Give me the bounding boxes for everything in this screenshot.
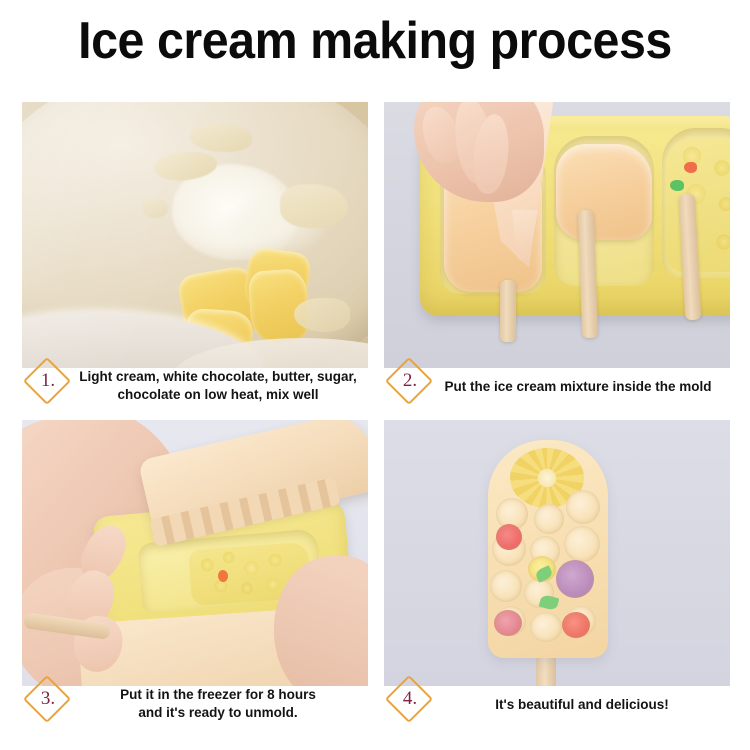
infographic-page: Ice cream making process [0, 0, 750, 750]
step-photo-4 [384, 420, 730, 686]
page-title: Ice cream making process [26, 10, 724, 72]
caption-line: It's beautiful and delicious! [442, 696, 722, 714]
steps-grid: 1. Light cream, white chocolate, butter,… [0, 100, 750, 750]
step-photo-1 [22, 102, 368, 368]
pink-rose-icon [494, 610, 522, 636]
purple-rose-icon [556, 560, 594, 598]
coral-flower-icon [562, 612, 590, 638]
step-card-3: 3. Put it in the freezer for 8 hours and… [22, 420, 368, 740]
cream-rosette-icon [530, 612, 562, 642]
step-number-1: 1. [30, 364, 64, 398]
wooden-stick-icon [500, 280, 516, 342]
step-card-1: 1. Light cream, white chocolate, butter,… [22, 102, 368, 422]
red-flower-icon [684, 162, 697, 173]
step-caption-1: Light cream, white chocolate, butter, su… [68, 368, 368, 404]
step-number-4: 4. [392, 682, 426, 716]
chocolate-chunk-icon [280, 184, 348, 228]
step-caption-4: It's beautiful and delicious! [442, 696, 722, 714]
caption-line: Light cream, white chocolate, butter, su… [68, 368, 368, 386]
step-caption-row-1: 1. Light cream, white chocolate, butter,… [22, 368, 368, 420]
step-photo-2 [384, 102, 730, 368]
caption-line: chocolate on low heat, mix well [68, 386, 368, 404]
step-card-4: 4. It's beautiful and delicious! [384, 420, 730, 740]
cream-rosette-icon [566, 490, 600, 524]
chocolate-chunk-icon [142, 198, 168, 218]
pink-flower-icon [496, 524, 522, 550]
cream-rosette-icon [490, 570, 522, 602]
step-photo-3 [22, 420, 368, 686]
step-caption-2: Put the ice cream mixture inside the mol… [426, 378, 730, 396]
step-card-2: 2. Put the ice cream mixture inside the … [384, 102, 730, 422]
green-leaf-icon [670, 180, 684, 191]
step-caption-row-3: 3. Put it in the freezer for 8 hours and… [22, 686, 368, 738]
cream-rosette-icon [534, 504, 564, 534]
caption-line: and it's ready to unmold. [68, 704, 368, 722]
ice-cream-mixture-icon [556, 144, 652, 240]
caption-line: Put it in the freezer for 8 hours [68, 686, 368, 704]
step-number-3: 3. [30, 682, 64, 716]
flower-relief-icon [666, 138, 730, 272]
caption-line: Put the ice cream mixture inside the mol… [426, 378, 730, 396]
step-caption-row-4: 4. It's beautiful and delicious! [384, 686, 730, 738]
step-number-2: 2. [392, 364, 426, 398]
step-caption-3: Put it in the freezer for 8 hours and it… [68, 686, 368, 722]
cream-rosette-icon [564, 526, 600, 562]
melted-cream-icon [294, 298, 350, 332]
step-caption-row-2: 2. Put the ice cream mixture inside the … [384, 368, 730, 420]
